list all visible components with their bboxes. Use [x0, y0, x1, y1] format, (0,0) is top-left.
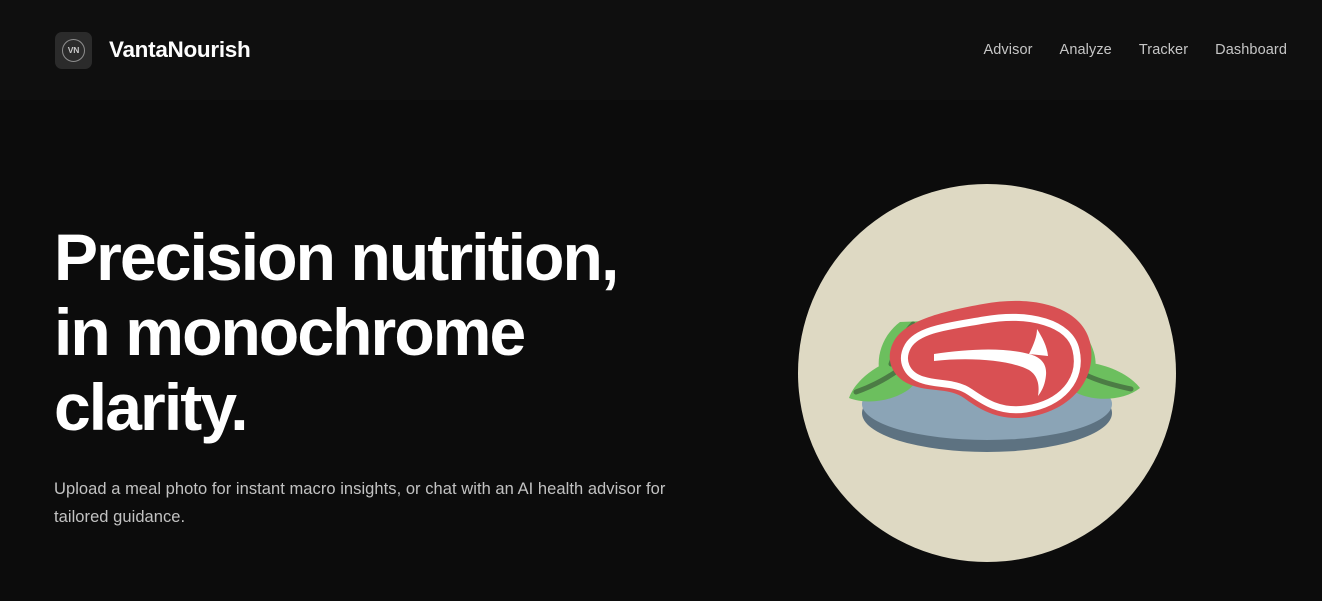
hero-subtitle: Upload a meal photo for instant macro in…	[54, 475, 666, 531]
nav-link-advisor[interactable]: Advisor	[983, 42, 1032, 58]
hero-heading-line-2: in monochrome	[54, 295, 524, 369]
hero-section: Precision nutrition, in monochrome clari…	[0, 100, 1322, 601]
site-header: VN VantaNourish Advisor Analyze Tracker …	[0, 0, 1322, 100]
monogram-initials: VN	[68, 46, 79, 55]
hero-heading-line-1: Precision nutrition,	[54, 220, 617, 294]
nav-link-dashboard[interactable]: Dashboard	[1215, 42, 1287, 58]
steak-on-plate-illustration	[798, 184, 1176, 562]
page-title: Precision nutrition, in monochrome clari…	[54, 220, 714, 445]
brand-logo[interactable]: VN VantaNourish	[55, 0, 250, 100]
hero-heading-line-3: clarity.	[54, 370, 247, 444]
nav-link-tracker[interactable]: Tracker	[1139, 42, 1188, 58]
hero-copy: Precision nutrition, in monochrome clari…	[54, 220, 714, 531]
main-navigation: Advisor Analyze Tracker Dashboard	[983, 42, 1287, 58]
brand-name: VantaNourish	[109, 37, 250, 63]
vn-monogram-icon: VN	[55, 32, 92, 69]
nav-link-analyze[interactable]: Analyze	[1060, 42, 1112, 58]
monogram-circle-icon: VN	[62, 39, 85, 62]
